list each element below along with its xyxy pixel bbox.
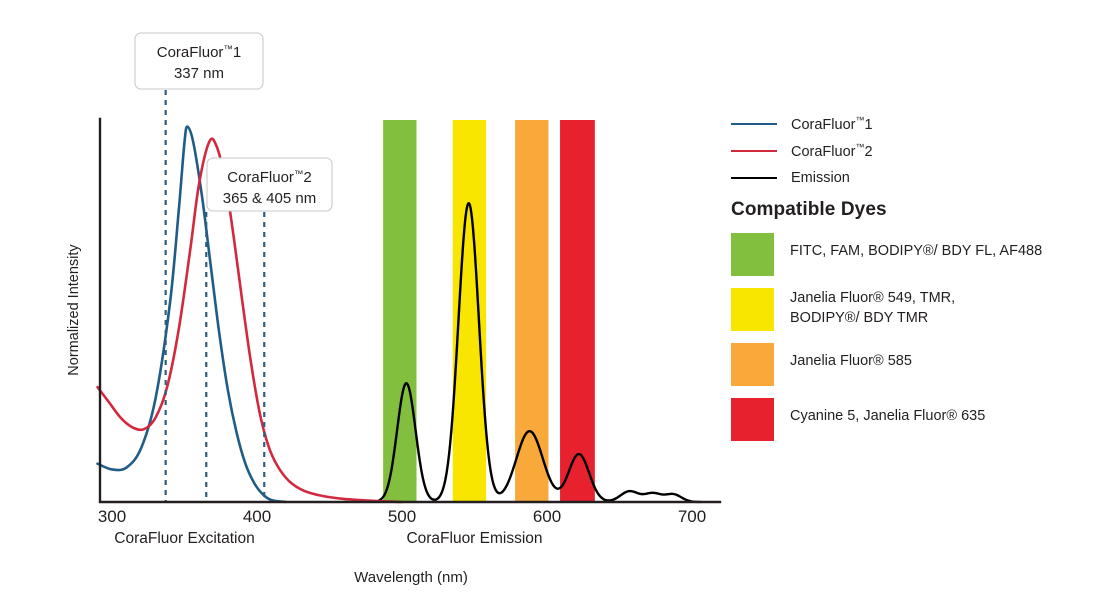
trademark-symbol: ™ xyxy=(855,115,864,125)
legend-corafluor1-swatch xyxy=(731,123,777,125)
xtick-label-500: 500 xyxy=(388,507,416,526)
dye-red: Cyanine 5, Janelia Fluor® 635 xyxy=(731,398,1101,441)
legend-corafluor1: CoraFluor™1 xyxy=(731,110,1101,137)
dye-orange-label: Janelia Fluor® 585 xyxy=(790,343,912,372)
xtick-label-700: 700 xyxy=(678,507,706,526)
dye-green: FITC, FAM, BODIPY®/ BDY FL, AF488 xyxy=(731,233,1101,276)
legend-corafluor2-swatch xyxy=(731,150,777,152)
series-legend: CoraFluor™1CoraFluor™2Emission xyxy=(731,110,1101,191)
xtick-label-600: 600 xyxy=(533,507,561,526)
legend-emission-swatch xyxy=(731,177,777,179)
legend-emission-label: Emission xyxy=(791,170,850,186)
dye-yellow: Janelia Fluor® 549, TMR,BODIPY®/ BDY TMR xyxy=(731,288,1101,331)
compatible-dyes-list: FITC, FAM, BODIPY®/ BDY FL, AF488Janelia… xyxy=(731,233,1101,453)
dye-green-label: FITC, FAM, BODIPY®/ BDY FL, AF488 xyxy=(790,233,1042,262)
legend-corafluor1-label: CoraFluor™1 xyxy=(791,115,873,133)
legend-emission: Emission xyxy=(731,164,1101,191)
green-band xyxy=(383,120,416,502)
dye-orange-swatch xyxy=(731,343,774,386)
compatible-dyes-heading: Compatible Dyes xyxy=(731,199,887,221)
yellow-band xyxy=(453,120,486,502)
y-axis-title: Normalized Intensity xyxy=(66,244,82,376)
dye-yellow-swatch xyxy=(731,288,774,331)
corafluor2-callout-line2: 365 & 405 nm xyxy=(223,190,316,207)
dye-green-swatch xyxy=(731,233,774,276)
legend-corafluor2-label: CoraFluor™2 xyxy=(791,142,873,160)
dye-red-swatch xyxy=(731,398,774,441)
dye-yellow-label: Janelia Fluor® 549, TMR,BODIPY®/ BDY TMR xyxy=(790,288,955,328)
trademark-symbol: ™ xyxy=(855,142,864,152)
axis-section-label-1: CoraFluor Excitation xyxy=(114,530,254,547)
dye-red-label: Cyanine 5, Janelia Fluor® 635 xyxy=(790,398,985,427)
axis-section-label-2: CoraFluor Emission xyxy=(406,530,542,547)
xtick-label-400: 400 xyxy=(243,507,271,526)
xtick-label-300: 300 xyxy=(98,507,126,526)
red-band xyxy=(560,120,595,502)
x-axis-title: Wavelength (nm) xyxy=(354,569,468,586)
legend-corafluor2: CoraFluor™2 xyxy=(731,137,1101,164)
dye-orange: Janelia Fluor® 585 xyxy=(731,343,1101,386)
corafluor1-callout-line2: 337 nm xyxy=(174,65,224,82)
